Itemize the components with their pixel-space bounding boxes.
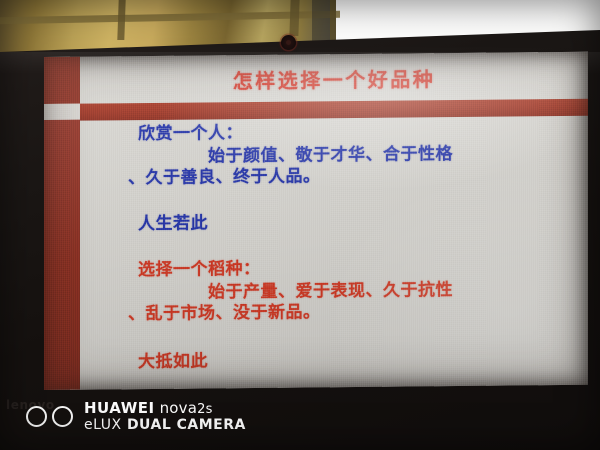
text-line: 选择一个稻种：	[80, 256, 550, 281]
text-line: 、乱于市场、没于新品。	[80, 300, 550, 325]
slide-decor-top-block	[44, 57, 80, 104]
window-mullion-vertical-2	[289, 0, 299, 36]
slide-title: 怎样选择一个好品种	[80, 54, 588, 104]
text-block-appreciate-a-person: 欣赏一个人： 始于颜值、敬于才华、合于性格 、久于善良、终于人品。	[80, 120, 550, 189]
text-line: 欣赏一个人：	[80, 120, 550, 145]
watermark-dual-camera: DUAL CAMERA	[127, 417, 246, 433]
text-line: 大抵如此	[80, 348, 550, 373]
monitor-screen: 怎样选择一个好品种 欣赏一个人： 始于颜值、敬于才华、合于性格 、久于善良、终于…	[44, 52, 588, 390]
watermark-model-suffix: 2s	[197, 402, 212, 417]
lens-circle-right	[52, 406, 73, 427]
text-block-such-is-life: 人生若此	[80, 210, 550, 235]
slide-decor-notch	[44, 104, 80, 120]
text-block-roughly-so: 大抵如此	[80, 348, 550, 373]
slide-body: 欣赏一个人： 始于颜值、敬于才华、合于性格 、久于善良、终于人品。 人生若此 选…	[80, 116, 588, 390]
text-line: 、久于善良、终于人品。	[80, 164, 550, 189]
window-mullion-vertical-3	[330, 0, 336, 44]
watermark-model: nova	[160, 399, 198, 417]
watermark-text: HUAWEI nova2s eLUX DUAL CAMERA	[84, 400, 246, 434]
slide-decor-left-column	[44, 57, 80, 390]
watermark-brand: HUAWEI	[84, 399, 155, 417]
watermark-line-2: eLUX DUAL CAMERA	[84, 417, 246, 433]
webcam-lens-dot	[286, 40, 291, 45]
watermark-elux: eLUX	[84, 417, 122, 433]
lens-circle-left	[26, 406, 47, 427]
presentation-slide: 怎样选择一个好品种 欣赏一个人： 始于颜值、敬于才华、合于性格 、久于善良、终于…	[44, 52, 588, 390]
slide-decor-side-bar	[44, 120, 80, 390]
watermark-line-1: HUAWEI nova2s	[84, 400, 246, 417]
text-line: 人生若此	[80, 210, 550, 235]
camera-watermark: HUAWEI nova2s eLUX DUAL CAMERA	[26, 400, 246, 434]
dual-lens-icon	[26, 406, 73, 427]
window-mullion-vertical-1	[117, 0, 125, 40]
text-block-choose-a-rice-variety: 选择一个稻种： 始于产量、爱于表现、久于抗性 、乱于市场、没于新品。	[80, 256, 550, 325]
